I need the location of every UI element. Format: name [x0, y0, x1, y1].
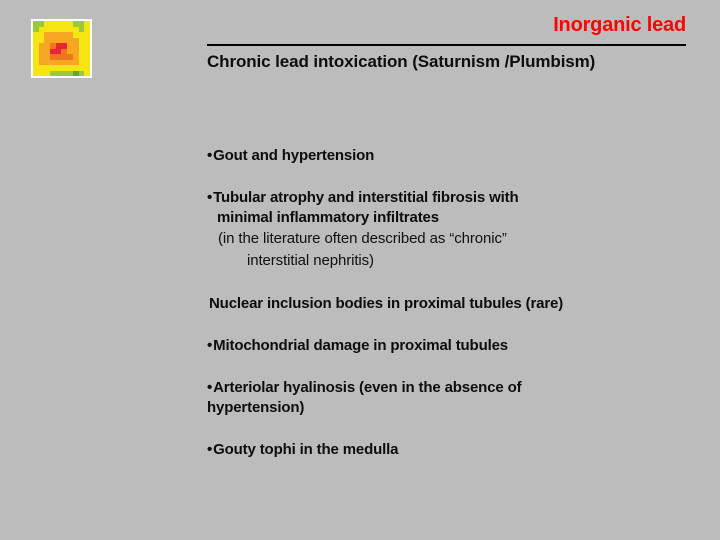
logo-pixel-grid: [33, 21, 90, 76]
list-item-label-continued: minimal inflammatory infiltrates: [207, 208, 677, 228]
list-item: •Gouty tophi in the medulla: [207, 440, 677, 460]
bullet-icon: •: [207, 441, 212, 458]
bullet-icon: •: [207, 379, 212, 396]
list-item-label: •Tubular atrophy and interstitial fibros…: [207, 188, 677, 208]
bullet-list: •Gout and hypertension•Tubular atrophy a…: [207, 146, 677, 460]
list-item: •Arteriolar hyalinosis (even in the abse…: [207, 378, 677, 418]
title-divider: [207, 44, 686, 46]
list-item-label: •Arteriolar hyalinosis (even in the abse…: [207, 378, 677, 398]
list-item-label: •Mitochondrial damage in proximal tubule…: [207, 336, 677, 356]
slide-canvas: Inorganic lead Chronic lead intoxication…: [0, 0, 720, 540]
list-item-note: interstitial nephritis): [207, 250, 677, 272]
list-item: •Mitochondrial damage in proximal tubule…: [207, 336, 677, 356]
bullet-icon: •: [207, 147, 212, 164]
bullet-icon: •: [207, 189, 212, 206]
page-title: Inorganic lead: [553, 14, 686, 37]
bullet-icon: •: [207, 337, 212, 354]
nested-squares-logo: [31, 19, 92, 78]
logo-pixel: [84, 71, 90, 77]
list-item-note: (in the literature often described as “c…: [207, 228, 677, 250]
list-item-label: •Gout and hypertension: [207, 146, 677, 166]
list-item: Nuclear inclusion bodies in proximal tub…: [207, 294, 677, 314]
page-subtitle: Chronic lead intoxication (Saturnism /Pl…: [207, 52, 595, 72]
list-item: •Gout and hypertension: [207, 146, 677, 166]
list-item-label: •Gouty tophi in the medulla: [207, 440, 677, 460]
list-item: •Tubular atrophy and interstitial fibros…: [207, 188, 677, 272]
list-item-label-continued: hypertension): [207, 398, 677, 418]
list-item-label: Nuclear inclusion bodies in proximal tub…: [207, 294, 677, 314]
